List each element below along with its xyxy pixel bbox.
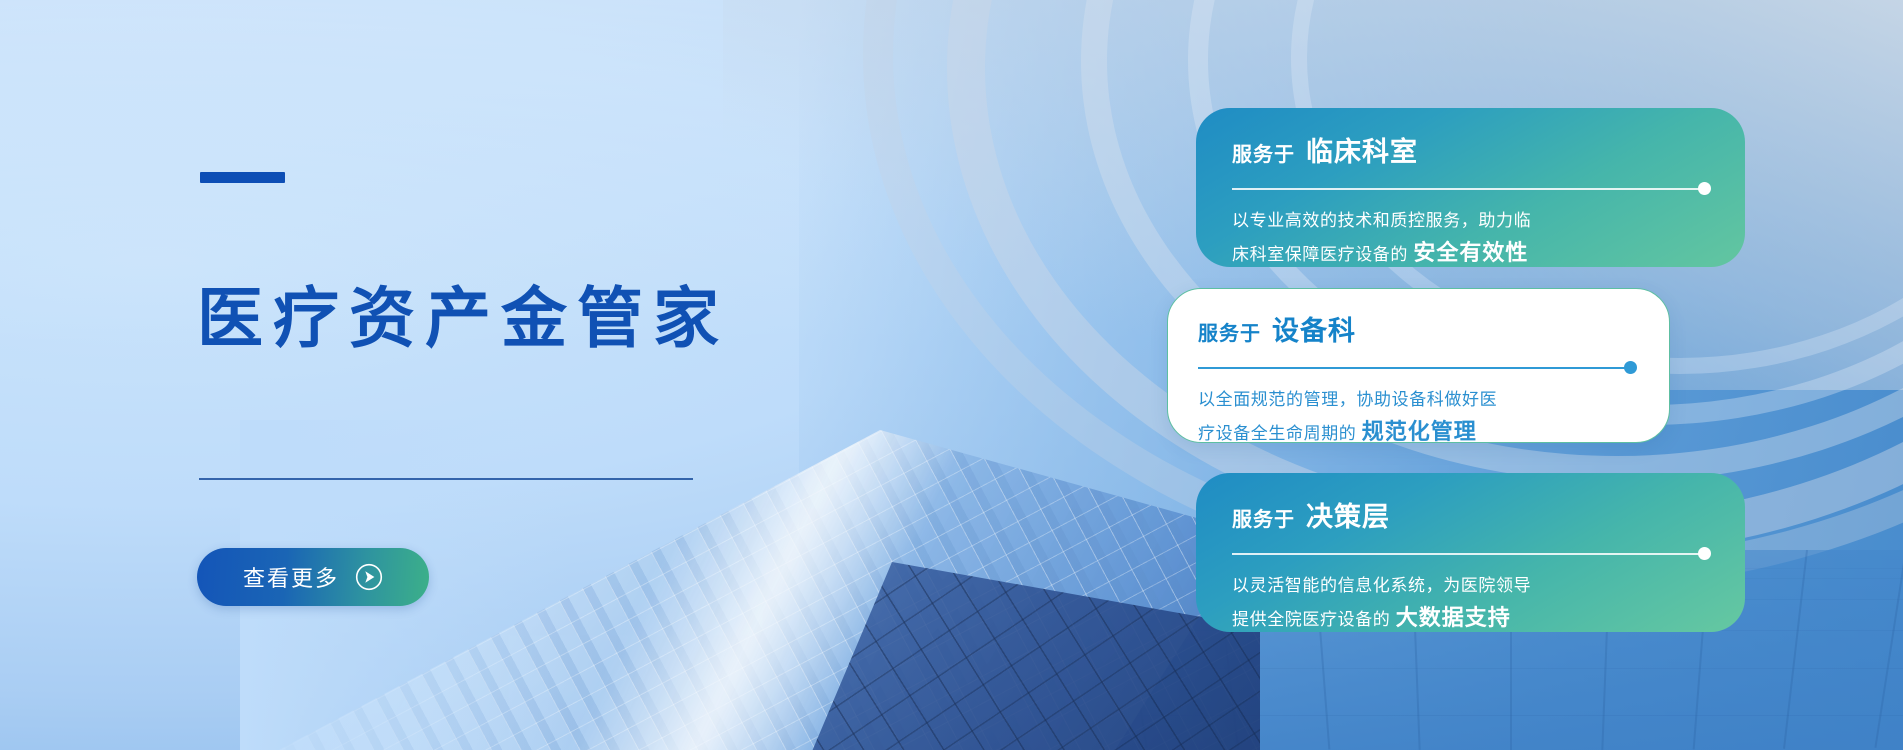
card-rule	[1198, 357, 1637, 379]
accent-bar	[200, 172, 285, 183]
card-inner: 服务于 设备科 以全面规范的管理，协助设备科做好医 疗设备全生命周期的 规范化管…	[1168, 289, 1669, 442]
section-divider	[199, 478, 693, 480]
card-audience: 临床科室	[1306, 130, 1418, 169]
card-description: 以全面规范的管理，协助设备科做好医 疗设备全生命周期的 规范化管理	[1198, 386, 1637, 449]
card-desc-plain: 疗设备全生命周期的	[1198, 424, 1356, 443]
card-inner: 服务于 临床科室 以专业高效的技术和质控服务，助力临 床科室保障医疗设备的 安全…	[1196, 108, 1745, 267]
card-prefix: 服务于	[1198, 317, 1261, 346]
card-inner: 服务于 决策层 以灵活智能的信息化系统，为医院领导 提供全院医疗设备的 大数据支…	[1196, 473, 1745, 632]
card-desc-highlight: 安全有效性	[1413, 240, 1528, 265]
card-desc-line-1: 以灵活智能的信息化系统，为医院领导	[1232, 572, 1711, 600]
card-desc-line-1: 以专业高效的技术和质控服务，助力临	[1232, 207, 1711, 235]
service-card-decision-layer[interactable]: 服务于 决策层 以灵活智能的信息化系统，为医院领导 提供全院医疗设备的 大数据支…	[1196, 473, 1745, 632]
card-rule-line	[1198, 367, 1628, 369]
card-desc-line-2: 疗设备全生命周期的 规范化管理	[1198, 414, 1637, 450]
hero-banner: 医疗资产金管家 查看更多 服务于 临床科室 以专业高效的技术和质控	[0, 0, 1903, 750]
card-desc-plain: 床科室保障医疗设备的	[1232, 245, 1408, 264]
card-desc-line-2: 提供全院医疗设备的 大数据支持	[1232, 600, 1711, 636]
card-desc-line-1: 以全面规范的管理，协助设备科做好医	[1198, 386, 1637, 414]
card-rule	[1232, 178, 1711, 200]
card-desc-plain: 提供全院医疗设备的	[1232, 610, 1390, 629]
card-prefix: 服务于	[1232, 138, 1295, 167]
circle-arrow-right-icon	[355, 563, 383, 591]
card-desc-line-2: 床科室保障医疗设备的 安全有效性	[1232, 235, 1711, 271]
service-card-clinical-department[interactable]: 服务于 临床科室 以专业高效的技术和质控服务，助力临 床科室保障医疗设备的 安全…	[1196, 108, 1745, 267]
hero-left-content: 医疗资产金管家 查看更多	[197, 0, 837, 750]
card-rule-line	[1232, 188, 1702, 190]
card-desc-highlight: 规范化管理	[1362, 419, 1477, 444]
card-rule-dot	[1698, 547, 1711, 560]
card-description: 以灵活智能的信息化系统，为医院领导 提供全院医疗设备的 大数据支持	[1232, 572, 1711, 635]
card-audience: 设备科	[1272, 309, 1356, 348]
card-rule	[1232, 543, 1711, 565]
card-rule-dot	[1624, 361, 1637, 374]
page-title: 医疗资产金管家	[197, 285, 729, 351]
card-desc-highlight: 大数据支持	[1396, 605, 1511, 630]
card-prefix: 服务于	[1232, 503, 1295, 532]
card-description: 以专业高效的技术和质控服务，助力临 床科室保障医疗设备的 安全有效性	[1232, 207, 1711, 270]
service-card-equipment-department[interactable]: 服务于 设备科 以全面规范的管理，协助设备科做好医 疗设备全生命周期的 规范化管…	[1167, 288, 1670, 443]
card-kicker: 服务于 临床科室	[1232, 130, 1711, 169]
card-rule-dot	[1698, 182, 1711, 195]
view-more-button[interactable]: 查看更多	[197, 548, 429, 606]
floor-vertical-line	[1874, 550, 1903, 748]
card-kicker: 服务于 设备科	[1198, 309, 1637, 348]
view-more-label: 查看更多	[243, 561, 339, 593]
card-audience: 决策层	[1306, 495, 1390, 534]
card-kicker: 服务于 决策层	[1232, 495, 1711, 534]
floor-vertical-line	[1783, 550, 1807, 749]
card-rule-line	[1232, 553, 1702, 555]
